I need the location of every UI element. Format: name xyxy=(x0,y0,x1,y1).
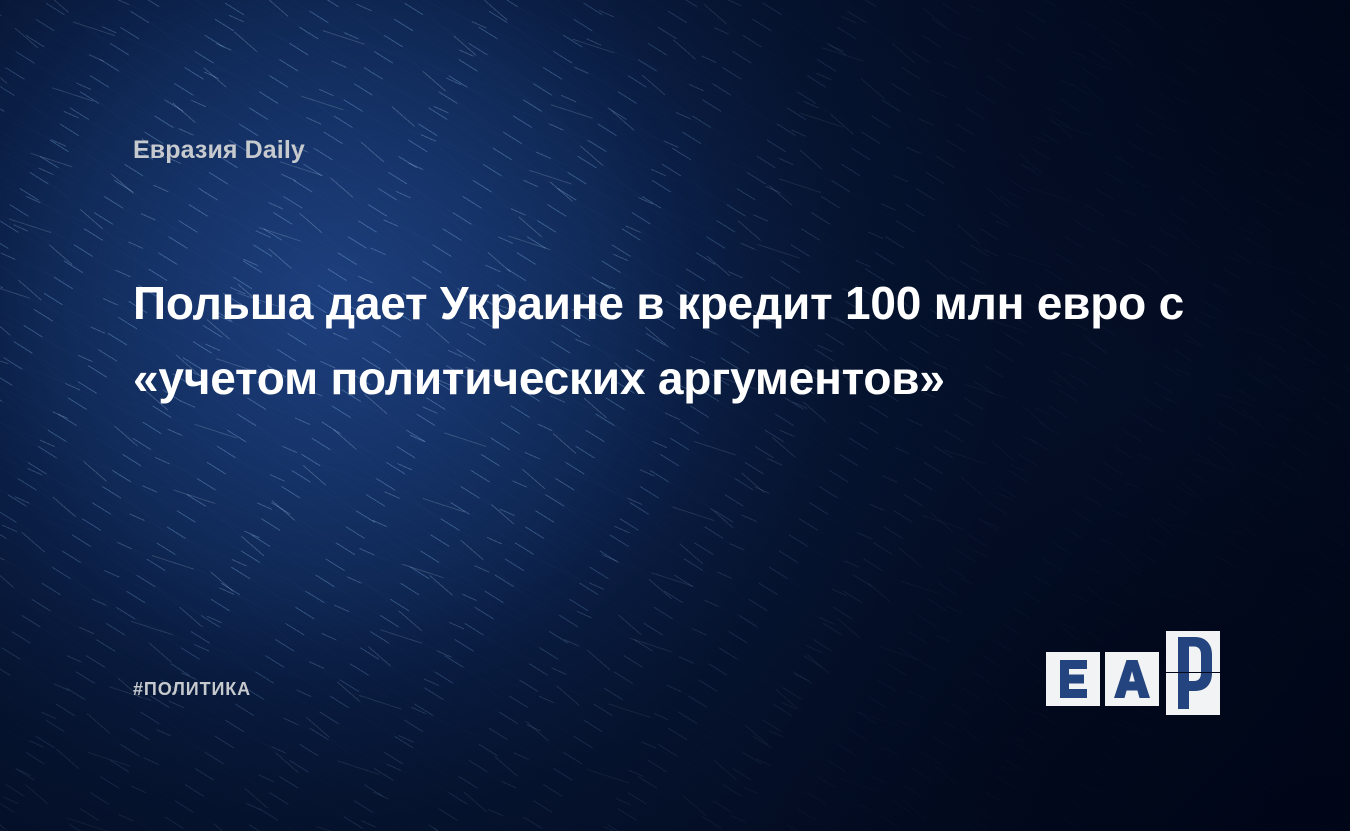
news-card: Евразия Daily Польша дает Украине в кред… xyxy=(0,0,1350,831)
logo-letter-d-bottom-icon xyxy=(1166,673,1220,715)
logo-letter-a-icon xyxy=(1105,652,1159,706)
logo-letter-a-tile xyxy=(1105,652,1159,706)
logo-letter-e-tile xyxy=(1046,652,1100,706)
logo-letter-d-top-icon xyxy=(1166,631,1220,672)
logo-letter-d-top-tile xyxy=(1166,631,1220,672)
page-title: Польша дает Украине в кредит 100 млн евр… xyxy=(133,266,1193,416)
topic-tag: #ПОЛИТИКА xyxy=(133,679,251,700)
logo-letter-d-bottom-tile xyxy=(1166,673,1220,715)
logo-letter-e-icon xyxy=(1046,652,1100,706)
brand-name: Евразия Daily xyxy=(133,136,305,165)
card-content: Евразия Daily Польша дает Украине в кред… xyxy=(0,0,1350,831)
eadaily-logo[interactable] xyxy=(1046,631,1220,715)
